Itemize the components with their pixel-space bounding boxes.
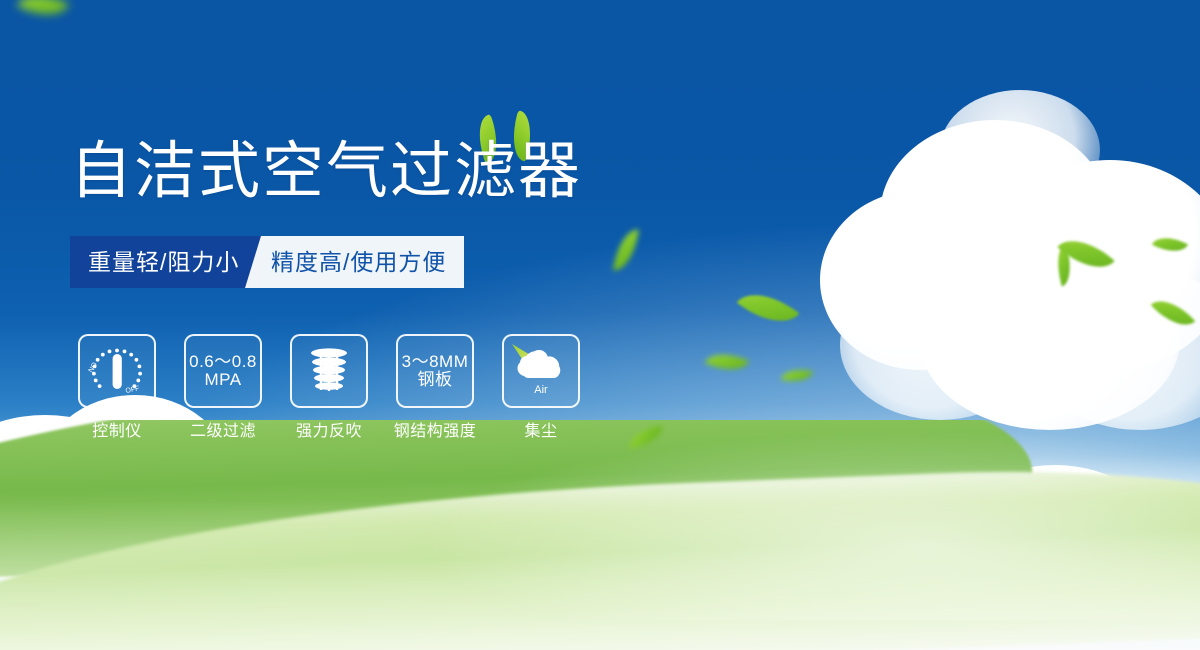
feature-label: 集尘 (524, 417, 557, 441)
feature-item[interactable]: 0.6～0.8 MPA 二级过滤 (184, 334, 262, 441)
feature-label: 控制仪 (92, 417, 142, 441)
grass-sun-glow (420, 430, 1200, 620)
feature-item[interactable]: 强力反吹 (290, 334, 368, 441)
air-cloud-icon: Air (502, 334, 580, 408)
icon-text: 3～8MM 钢板 (402, 353, 469, 389)
pressure-text-icon: 0.6～0.8 MPA (184, 334, 262, 408)
grass-field (0, 420, 1200, 650)
icon-text: 0.6～0.8 MPA (189, 353, 257, 389)
control-dial-icon: NO OFF (78, 334, 156, 408)
cloud-caption: Air (534, 384, 548, 396)
filter-coil-icon (290, 334, 368, 408)
subtitle-primary: 重量轻/阻力小 (70, 236, 261, 288)
feature-item[interactable]: NO OFF 控制仪 (78, 334, 156, 441)
icon-text-line1: 3～8MM (402, 352, 469, 371)
feature-item[interactable]: 3～8MM 钢板 钢结构强度 (396, 334, 474, 441)
cloud-large-right (820, 120, 1200, 450)
icon-text-line1: 0.6～0.8 (189, 352, 257, 371)
feature-label: 强力反吹 (296, 417, 362, 441)
feature-label: 二级过滤 (190, 417, 256, 441)
svg-text:NO: NO (88, 361, 100, 374)
feature-label: 钢结构强度 (394, 417, 477, 441)
icon-text-line2: 钢板 (402, 371, 469, 389)
feature-item[interactable]: Air 集尘 (502, 334, 580, 441)
subtitle-secondary: 精度高/使用方便 (245, 236, 464, 288)
feature-list: NO OFF 控制仪 0.6～0.8 MPA 二级过滤 (78, 334, 580, 441)
icon-text-line2: MPA (189, 371, 257, 389)
steel-plate-text-icon: 3～8MM 钢板 (396, 334, 474, 408)
page-title: 自洁式空气过滤器 (70, 141, 582, 203)
svg-text:OFF: OFF (125, 385, 140, 395)
product-hero-banner: 自洁式空气过滤器 重量轻/阻力小 精度高/使用方便 (0, 0, 1200, 650)
